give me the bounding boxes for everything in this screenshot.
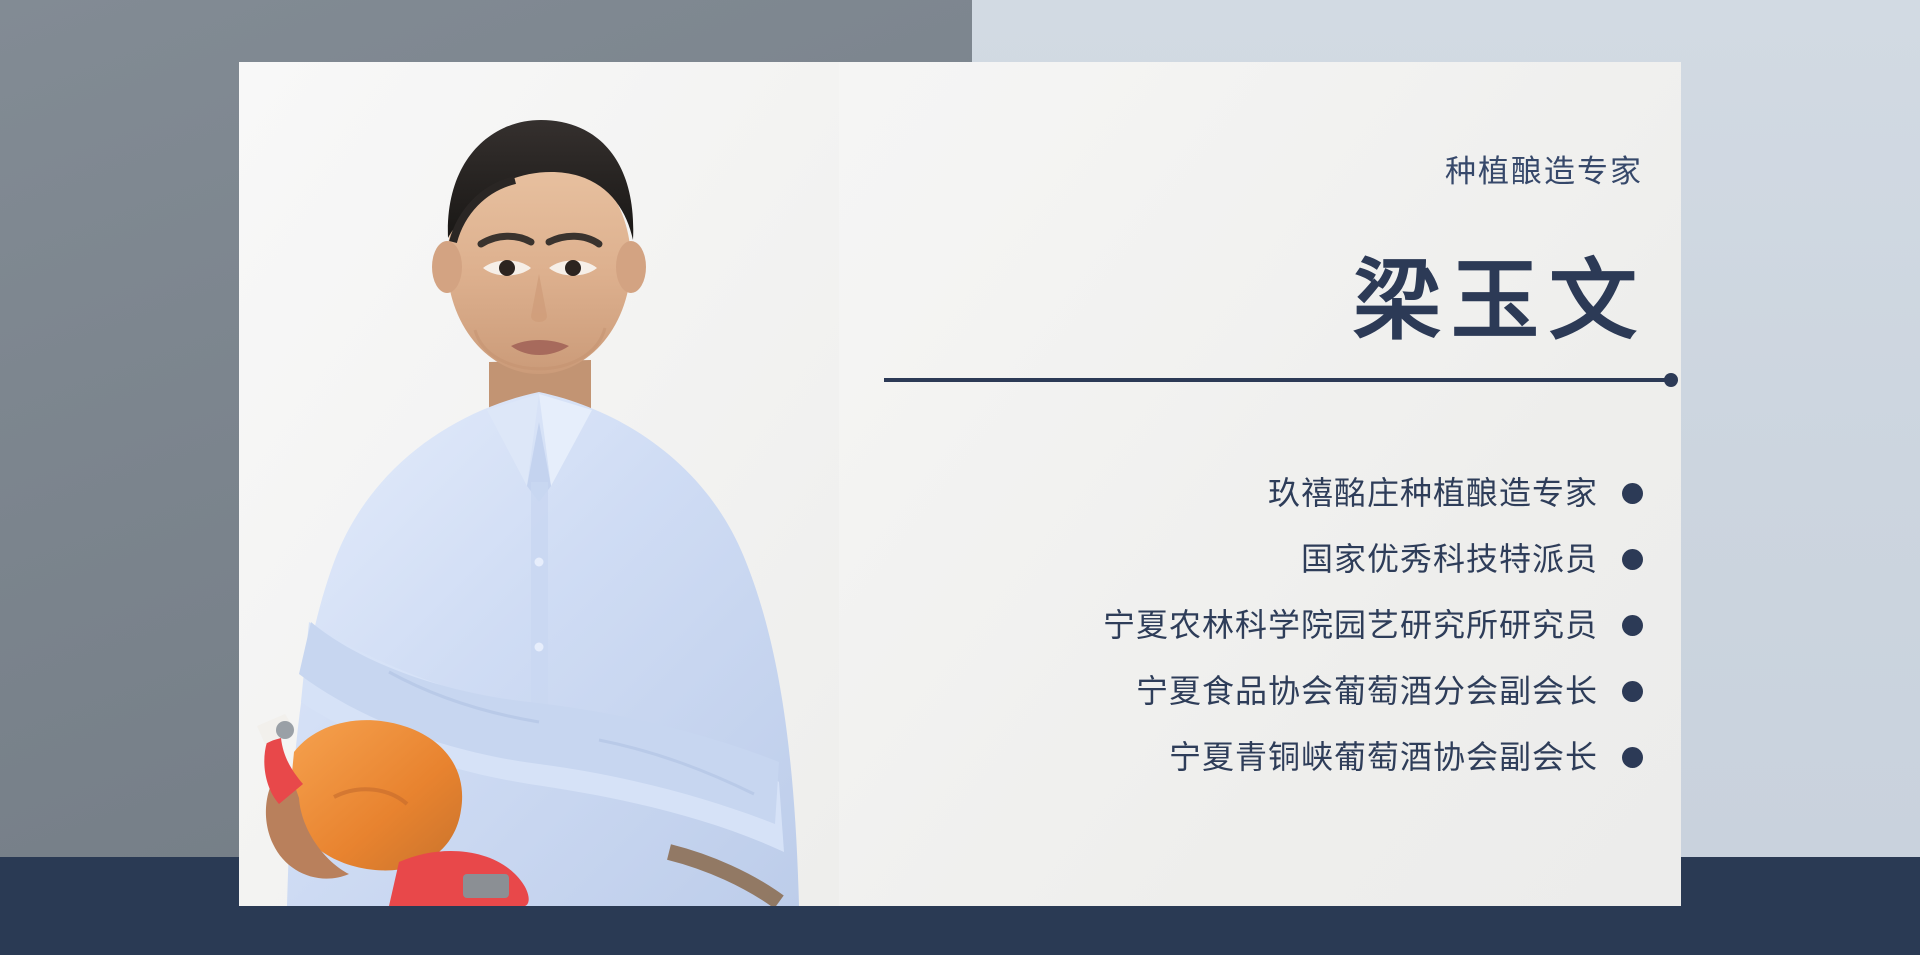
bullet-dot-icon (1622, 549, 1643, 570)
bullet-dot-icon (1622, 747, 1643, 768)
bullet-dot-icon (1622, 681, 1643, 702)
bullet-dot-icon (1622, 615, 1643, 636)
credential-text: 宁夏青铜峡葡萄酒协会副会长 (1169, 741, 1598, 773)
person-name: 梁玉文 (1353, 259, 1647, 347)
list-item: 宁夏青铜峡葡萄酒协会副会长 (903, 724, 1643, 790)
profile-card: 种植酿造专家 梁玉文 玖禧酩庄种植酿造专家 国家优秀科技特派员 宁夏农林科学院园… (239, 62, 1681, 906)
list-item: 宁夏农林科学院园艺研究所研究员 (903, 592, 1643, 658)
list-item: 国家优秀科技特派员 (903, 526, 1643, 592)
credentials-list: 玖禧酩庄种植酿造专家 国家优秀科技特派员 宁夏农林科学院园艺研究所研究员 宁夏食… (903, 460, 1643, 790)
credential-text: 宁夏食品协会葡萄酒分会副会长 (1136, 675, 1598, 707)
portrait-photo (239, 62, 839, 906)
profile-banner: 种植酿造专家 梁玉文 玖禧酩庄种植酿造专家 国家优秀科技特派员 宁夏农林科学院园… (0, 0, 1920, 970)
bullet-dot-icon (1622, 483, 1643, 504)
role-label: 种植酿造专家 (1445, 156, 1643, 187)
profile-text-column: 种植酿造专家 梁玉文 玖禧酩庄种植酿造专家 国家优秀科技特派员 宁夏农林科学院园… (879, 62, 1681, 906)
credential-text: 国家优秀科技特派员 (1301, 543, 1598, 575)
divider-line (884, 378, 1674, 382)
divider-end-dot (1664, 373, 1678, 387)
credential-text: 宁夏农林科学院园艺研究所研究员 (1103, 609, 1598, 641)
list-item: 玖禧酩庄种植酿造专家 (903, 460, 1643, 526)
background-white-strip (0, 955, 1920, 970)
list-item: 宁夏食品协会葡萄酒分会副会长 (903, 658, 1643, 724)
credential-text: 玖禧酩庄种植酿造专家 (1268, 477, 1598, 509)
